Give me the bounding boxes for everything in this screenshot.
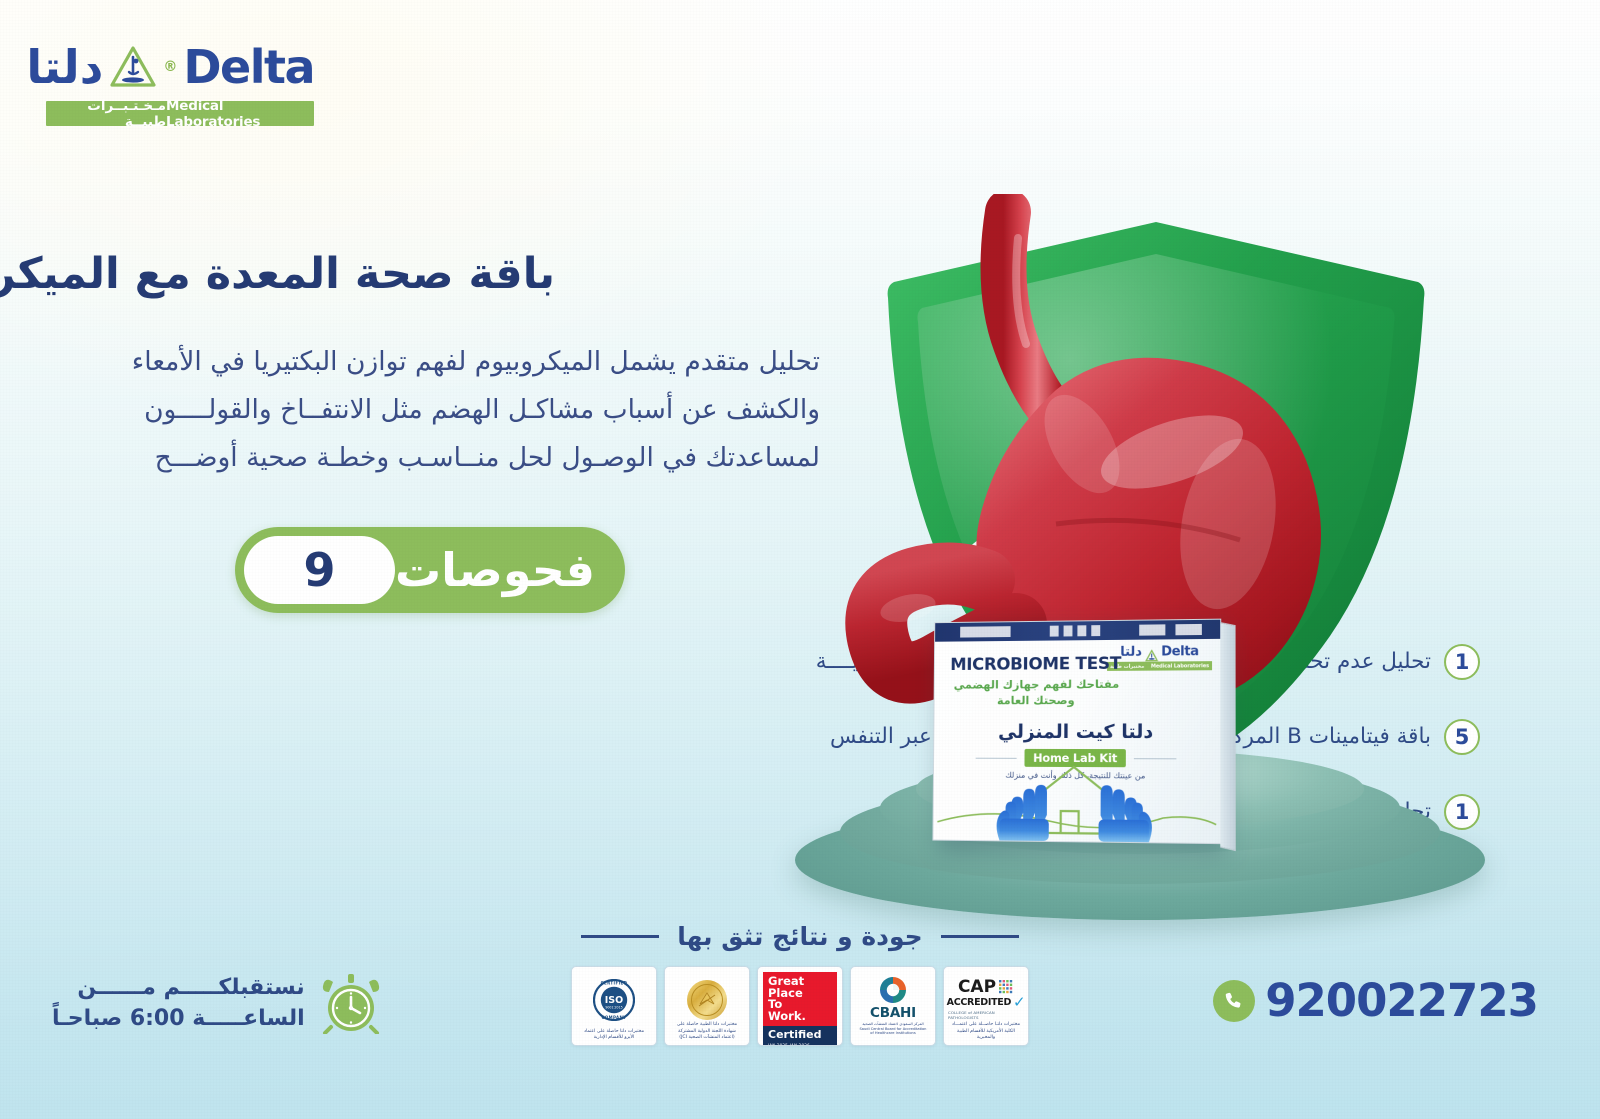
contact-phone[interactable]: 920022723 <box>1213 978 1538 1023</box>
gptw-line-4: Work. <box>768 1011 832 1023</box>
logo-latin-text: Delta <box>183 44 314 90</box>
iso-arabic-text: مختبرات دلتا حاصلة على اعتماد الأيزو للأ… <box>584 1029 644 1042</box>
box-logo-bar-en: Medical Laboratories <box>1151 663 1209 669</box>
hero-artwork: Delta دلتا Medical Laboratories مخت <box>760 170 1560 910</box>
box-logo-arabic: دلتا <box>1120 645 1142 660</box>
description-line-2: والكشف عن أسباب مشاكـل الهضم مثل الانتفـ… <box>60 386 820 434</box>
certificate-iso: ISO 9001:2015 CERTIFIED COMPANY مختبرات … <box>571 966 657 1046</box>
gptw-red-block: Great Place To Work. <box>763 972 837 1026</box>
gloved-hands-house-icon <box>933 763 1220 844</box>
tests-count-number: 9 <box>244 536 395 604</box>
brand-logo: Delta ® دلتا Medical Laboratories مـخـتـ… <box>46 38 314 126</box>
cap-college-text: COLLEGE of AMERICAN PATHOLOGISTS <box>948 1010 1024 1020</box>
cap-accredited-word: ACCREDITED <box>947 997 1011 1008</box>
cap-accredited-icon <box>999 980 1014 995</box>
box-subtitle-ar: مفتاحك لفهم جهازك الهضمي وصحتك العامة <box>948 677 1125 709</box>
iso-arabic-line-1: مختبرات دلتا حاصلة على اعتماد <box>584 1029 644 1035</box>
certificate-cap: CAP ACCREDITED ✓ COLLEGE of AMERICAN PAT… <box>943 966 1029 1046</box>
opening-hours-text: نستقبلكـــــم مــــــن الساعـــــة 6:00 … <box>52 972 305 1034</box>
opening-hours-line-2: الساعـــــة 6:00 صباحـاً <box>52 1003 305 1034</box>
gold-arabic-line-1: مختبرات دلتا الطبية حاصلة على <box>677 1022 737 1028</box>
cap-word: CAP <box>958 979 996 996</box>
logo-arabic-text: دلتا <box>26 44 103 90</box>
logo-tagline-en: Medical Laboratories <box>166 98 305 130</box>
svg-text:9001:2015: 9001:2015 <box>605 1006 622 1010</box>
tests-count-label: فحوصات <box>395 547 595 593</box>
box-title-en: MICROBIOME TEST <box>950 654 1121 675</box>
logo-tagline-ar: مـخـتـبــرات طبيــة <box>55 98 166 130</box>
gold-arabic-line-2: شهادة اللجنة الدولية المشتركة <box>677 1029 737 1035</box>
trust-section-header: جودة و نتائج تثق بها <box>0 922 1600 951</box>
gptw-certified-label: Certified <box>763 1026 837 1043</box>
microscope-triangle-icon <box>1145 646 1158 658</box>
opening-hours: نستقبلكـــــم مــــــن الساعـــــة 6:00 … <box>52 972 381 1034</box>
microscope-triangle-icon <box>109 45 157 89</box>
certificate-great-place-to-work: Great Place To Work. Certified JAN 2025-… <box>757 966 843 1046</box>
cbahi-icon <box>880 977 906 1003</box>
opening-hours-prefix: الساعـــــة <box>192 1006 304 1031</box>
trust-section-title: جودة و نتائج تثق بها <box>677 922 922 951</box>
cbahi-arabic-line: المركز السعودي لاعتماد المنشآت الصحية <box>860 1022 927 1027</box>
cap-arabic-line-2: الكلية الأمريكية للأقسام الطبية والمخبري… <box>948 1029 1024 1041</box>
opening-hours-line-1: نستقبلكـــــم مــــــن <box>52 972 305 1003</box>
box-subtitle-line-2: وصحتك العامة <box>948 692 1125 708</box>
opening-hours-time: 6:00 <box>130 1006 185 1031</box>
page-title: باقة صحة المعدة مع الميكروبيوم <box>45 248 555 302</box>
alarm-clock-icon <box>321 972 381 1034</box>
cbahi-english-line-2: of Healthcare Institutions <box>860 1031 927 1036</box>
opening-hours-suffix: صباحـاً <box>52 1006 122 1031</box>
svg-text:CERTIFIED: CERTIFIED <box>601 981 628 986</box>
divider-right <box>581 935 659 938</box>
phone-number[interactable]: 920022723 <box>1265 978 1538 1023</box>
certificate-cbahi: CBAHI المركز السعودي لاعتماد المنشآت الص… <box>850 966 936 1046</box>
gold-arabic-line-3: (اعتماد المنشآت الصحية JCI) <box>677 1035 737 1041</box>
check-icon: ✓ <box>1013 997 1025 1008</box>
box-top-strip <box>935 620 1220 642</box>
cbahi-subtitle: المركز السعودي لاعتماد المنشآت الصحية Sa… <box>860 1022 927 1036</box>
tests-count-badge: فحوصات 9 <box>235 527 625 613</box>
box-brand-logo: Delta دلتا Medical Laboratories مخت <box>1107 644 1212 671</box>
svg-text:COMPANY: COMPANY <box>601 1015 626 1020</box>
box-subtitle-line-1: مفتاحك لفهم جهازك الهضمي <box>948 677 1125 693</box>
gold-quality-seal-icon <box>686 979 728 1021</box>
logo-top-row: Delta ® دلتا <box>46 38 314 96</box>
iso-arabic-line-2: الأيزو للأقسام الإدارية <box>584 1035 644 1041</box>
product-kit-box: Delta دلتا Medical Laboratories مخت <box>932 619 1221 844</box>
description-line-3: لمساعدتك في الوصـول لحل منــاسـب وخطـة ص… <box>60 434 820 482</box>
certificate-gold-seal: مختبرات دلتا الطبية حاصلة على شهادة اللج… <box>664 966 750 1046</box>
box-logo-latin: Delta <box>1161 644 1199 659</box>
box-kit-name-ar: دلتا كيت المنزلي <box>934 721 1220 743</box>
iso-certified-icon: ISO 9001:2015 CERTIFIED COMPANY <box>593 979 635 1021</box>
description-line-1: تحليل متقدم يشمل الميكروبيوم لفهم توازن … <box>60 338 820 386</box>
cap-arabic-line-1: مختبرات دلتـا حاصــلة على اعتمـــاد <box>948 1022 1024 1028</box>
divider-left <box>941 935 1019 938</box>
logo-tagline-bar: Medical Laboratories مـخـتـبــرات طبيــة <box>46 101 314 126</box>
poster-canvas: Delta ® دلتا Medical Laboratories مـخـتـ… <box>0 0 1600 1119</box>
registered-mark: ® <box>163 59 177 75</box>
cbahi-word: CBAHI <box>870 1005 916 1021</box>
gold-seal-arabic-text: مختبرات دلتا الطبية حاصلة على شهادة اللج… <box>677 1022 737 1042</box>
gptw-date: JAN 2025-JAN 2026 <box>763 1043 837 1046</box>
phone-icon[interactable] <box>1213 980 1255 1022</box>
cap-arabic-text: مختبرات دلتـا حاصــلة على اعتمـــاد الكل… <box>948 1022 1024 1042</box>
description-paragraph: تحليل متقدم يشمل الميكروبيوم لفهم توازن … <box>60 338 820 483</box>
